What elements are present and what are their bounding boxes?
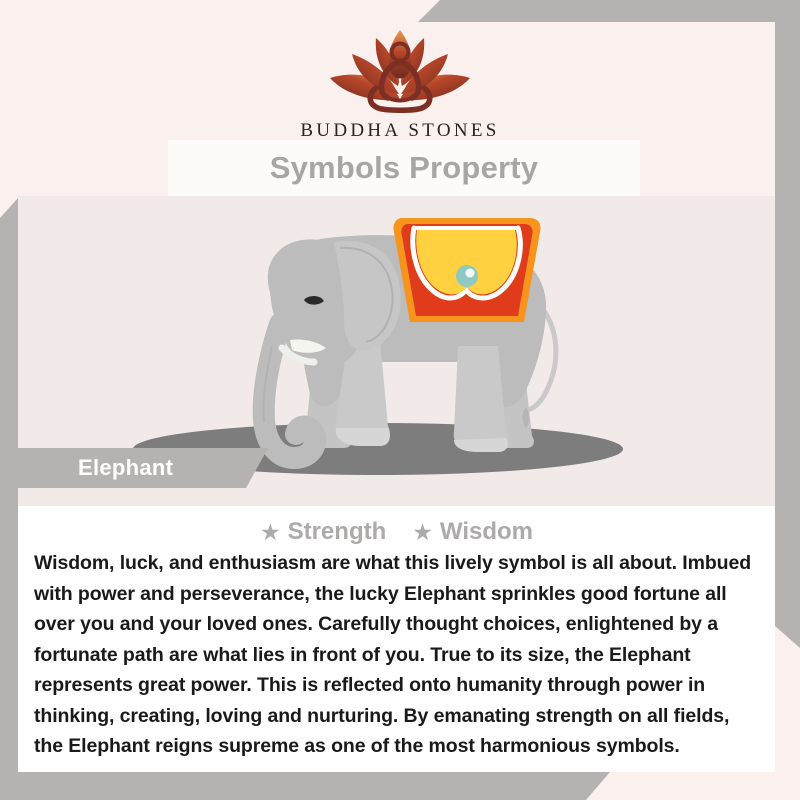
- symbol-description: Wisdom, luck, and enthusiasm are what th…: [34, 548, 759, 762]
- star-icon: ★: [412, 521, 433, 544]
- page-title: Symbols Property: [270, 150, 539, 186]
- brand-name: BUDDHA STONES: [300, 120, 499, 142]
- description-panel: ★ Strength ★ Wisdom Wisdom, luck, and en…: [18, 506, 775, 772]
- trait-item-wisdom: ★ Wisdom: [412, 518, 533, 546]
- frame-accent-top-right: [418, 0, 800, 22]
- symbol-name: Elephant: [78, 455, 173, 481]
- frame-accent-left: [0, 198, 18, 800]
- title-banner: Symbols Property: [168, 140, 640, 196]
- brand-logo: BUDDHA STONES: [0, 22, 800, 142]
- trait-label-strength: Strength: [288, 518, 387, 546]
- trait-list: ★ Strength ★ Wisdom: [34, 518, 759, 546]
- trait-label-wisdom: Wisdom: [440, 518, 533, 546]
- symbol-name-tag: Elephant: [18, 448, 268, 488]
- frame-accent-bottom-left: [0, 772, 610, 800]
- lotus-meditation-figure-icon: [316, 22, 484, 114]
- trait-item-strength: ★ Strength: [260, 518, 386, 546]
- star-icon: ★: [260, 521, 281, 544]
